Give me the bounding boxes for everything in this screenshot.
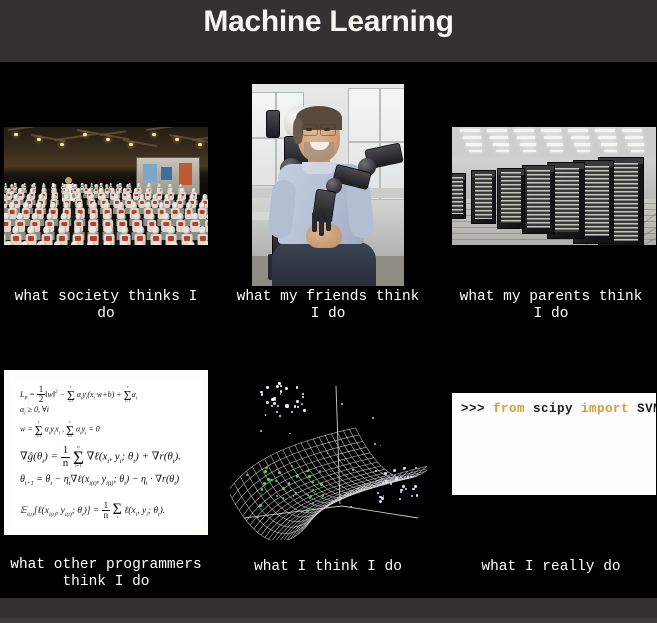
math-equation-1: LP = 12‖w‖2 − ℓΣi=1 αiyi(xi·w+b) + ℓΣi=1… [20, 385, 196, 405]
math-equation-2: αi ≥ 0, ∀i [20, 405, 196, 417]
page-title: Machine Learning [0, 2, 657, 42]
module-name: scipy [525, 402, 581, 416]
svm-surface-svg [230, 368, 427, 540]
panel-image-society [4, 127, 208, 245]
footer-sliver [0, 618, 657, 623]
math-equation-3: w = ℓΣi=1 αiyixi , ℓΣi=1 αiyi = 0 [20, 421, 196, 439]
math-page: LP = 12‖w‖2 − ℓΣi=1 αiyi(xi·w+b) + ℓΣi=1… [10, 377, 202, 528]
caption-friends: what my friends think I do [222, 289, 434, 323]
panel-image-parents [452, 127, 656, 245]
caption-i-think: what I think I do [222, 559, 434, 576]
panel-image-friends [252, 84, 404, 286]
caption-society: what society thinks I do [0, 289, 212, 323]
math-equation-4: ∇ĝ(θt) = 1n nΣi=1 ∇ℓ(xi, yi; θt) + ∇r(θt… [20, 445, 196, 469]
python-prompt: >>> [461, 402, 493, 416]
caption-parents: what my parents think I do [445, 289, 657, 323]
meme-image: Machine Learning what society thinks I d… [0, 0, 657, 623]
math-equation-6: 𝔼i(t)[ℓ(xi(t), yi(t); θt)] = 1n Σi ℓ(xi,… [20, 501, 196, 521]
keyword-import: import [581, 402, 629, 416]
caption-i-really-do: what I really do [445, 559, 657, 576]
imported-symbol: SVM [629, 402, 656, 416]
robot-arm-shoulder [312, 146, 404, 236]
caption-other-programmers: what other programmers think I do [0, 557, 212, 591]
python-console-line: >>> from scipy import SVM [461, 402, 656, 416]
keyword-from: from [493, 402, 525, 416]
panel-image-plot [230, 368, 427, 540]
math-equation-5: θt+1 = θt − ηt∇ℓ(xi(t), yi(t); θt) − ηt … [20, 474, 196, 487]
panel-image-code: >>> from scipy import SVM [452, 393, 656, 495]
panel-image-math: LP = 12‖w‖2 − ℓΣi=1 αiyi(xi·w+b) + ℓΣi=1… [4, 370, 208, 535]
